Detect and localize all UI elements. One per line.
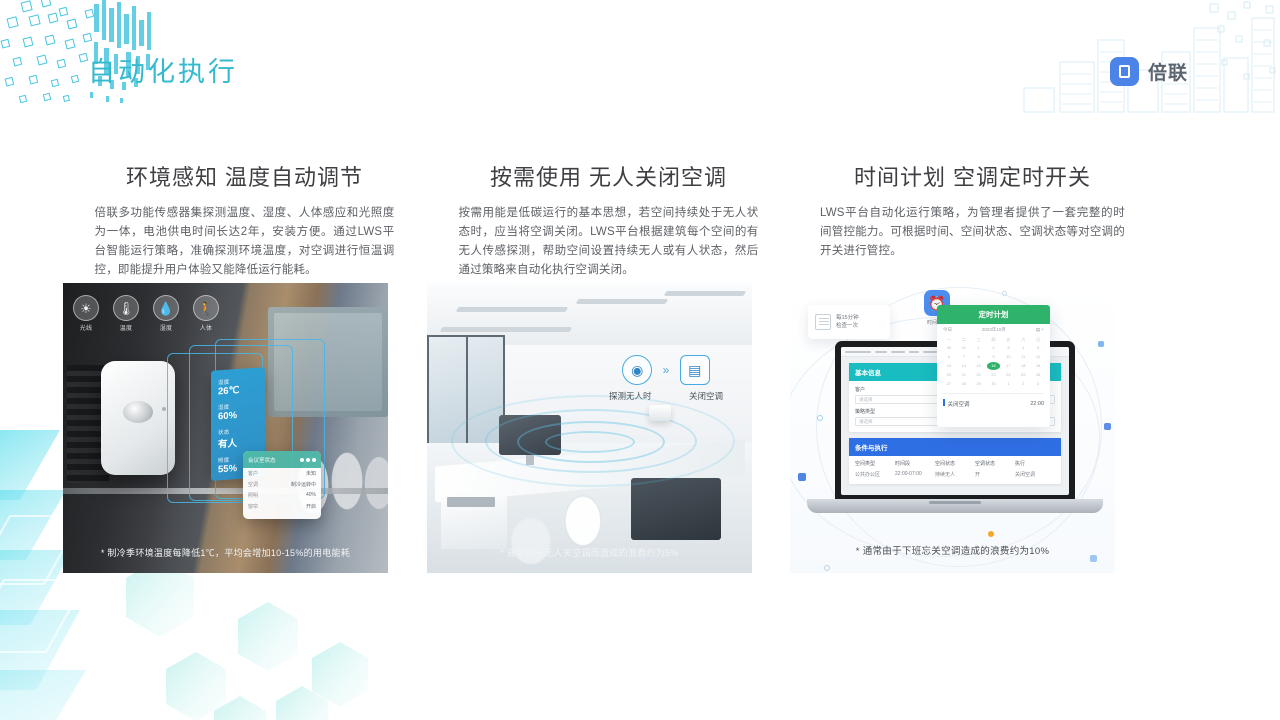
event-name: 关闭空调 [948,402,970,408]
presence-icon: 🚶 [193,295,219,321]
status-card-row: 客户 未知 [243,468,321,479]
status-row-key-0: 客户 [248,470,258,477]
calendar-day[interactable]: 3 [1031,380,1045,388]
photo2-icon-bar: ◉ » ▤ 探测无人时 关闭空调 [607,355,725,402]
calendar-day[interactable]: 10 [1001,353,1015,361]
feature-image-3: 每15分钟 检查一次 ⏰ 时间触发 基本信息 客户 请选择⌄ [790,283,1115,573]
event-name-wrap: 关闭空调 [943,399,970,408]
brand-logo: 倍联 [1110,57,1188,86]
calendar-day[interactable]: 30 [987,380,1001,388]
calendar-day[interactable]: 22 [972,371,986,379]
calendar-day[interactable]: 16 [987,362,1001,370]
calendar-day[interactable]: 29 [972,380,986,388]
calendar-day[interactable]: 8 [972,353,986,361]
feature-title-1: 环境感知 温度自动调节 [63,160,426,192]
calendar-day[interactable]: 27 [942,380,956,388]
calendar-day[interactable]: 6 [942,353,956,361]
presence-icon-label: 人体 [193,323,219,332]
calendar-day[interactable]: 28 [957,380,971,388]
status-row-key-3: 窗帘 [248,503,258,510]
presence-detect-icon: ◉ [622,355,652,385]
thermometer-icon-label: 温度 [113,323,139,332]
photo1-status-card: 会议室状态 客户 未知 空调 制冷运转中 照明 40% 窗帘 开启 [243,451,321,519]
feature-caption-2: * 通常由于无人关空调而造成的浪费约为5% [427,546,752,559]
air-conditioner-icon: ▤ [680,355,710,385]
feature-title-2: 按需使用 无人关闭空调 [427,160,790,192]
photo2-icon-left-label: 探测无人时 [609,390,652,402]
calendar-weekday: 五 [1001,336,1015,344]
status-card-dots-icon [300,458,316,462]
calendar-weekday: 四 [987,336,1001,344]
calendar-day[interactable]: 26 [1031,371,1045,379]
photo3-square [1104,423,1111,430]
calendar-today-button[interactable]: 今日 [943,327,952,333]
brand-name: 倍联 [1148,58,1188,85]
calendar-day[interactable]: 2 [1016,380,1030,388]
calendar-day[interactable]: 31 [957,344,971,352]
photo2-icon-right-label: 关闭空调 [689,390,723,402]
brand-mark-icon [1110,57,1139,86]
calendar-day[interactable]: 20 [942,371,956,379]
calendar-day[interactable]: 24 [1001,371,1015,379]
page-title: 自动化执行 [88,50,238,89]
sun-icon-group: ☀ 光线 [73,295,99,332]
feature-body-3: LWS平台自动化运行策略，为管理者提供了一套完整的时间管控能力。可根据时间、空间… [820,204,1125,261]
calendar-day[interactable]: 19 [1031,362,1045,370]
thermometer-icon: 🌡 [113,295,139,321]
col-header-space-type: 空间类型 [855,460,895,471]
feature-column-2: 按需使用 无人关闭空调 按需用能是低碳运行的基本思想，若空间持续处于无人状态时，… [427,160,790,280]
calendar-day[interactable]: 30 [942,344,956,352]
document-search-icon [815,314,831,330]
cell-time-range: 22:00-07:00 [895,471,935,478]
photo3-square [1098,341,1104,347]
feature-image-1: ☀ 光线 🌡 温度 💧 湿度 🚶 人体 温度 26℃ 湿度 60% 状态 有人 … [63,283,388,573]
cell-ac-status: 开 [975,471,1015,478]
calendar-day[interactable]: 15 [972,362,986,370]
photo2-icon-labels: 探测无人时 关闭空调 [607,390,725,402]
col-header-time-range: 时间段 [895,460,935,471]
photo1-sensor-icon-row: ☀ 光线 🌡 温度 💧 湿度 🚶 人体 [73,295,219,332]
feature-title-3: 时间计划 空调定时开关 [791,160,1154,192]
calendar-day[interactable]: 7 [957,353,971,361]
feature-column-3: 时间计划 空调定时开关 LWS平台自动化运行策略，为管理者提供了一套完整的时间管… [791,160,1154,280]
calendar-weekday-row: 一二三四五六日 [937,336,1050,344]
field-value: 请选择 [859,419,873,425]
status-row-value-2: 40% [306,492,316,499]
calendar-weekday: 三 [972,336,986,344]
calendar-day[interactable]: 5 [1031,344,1045,352]
feature-body-2: 按需用能是低碳运行的基本思想，若空间持续处于无人状态时，应当将空调关闭。LWS平… [459,204,759,280]
status-row-value-0: 未知 [306,470,316,477]
feature-column-1: 环境感知 温度自动调节 倍联多功能传感器集探测温度、湿度、人体感应和光照度为一体… [63,160,426,280]
schedule-calendar-card: 定时计划 今日 2023年10月 ▤ + 一二三四五六日 30311234567… [937,305,1050,427]
cell-space-type: 公共办公区 [855,471,895,478]
event-color-bar [943,399,945,406]
calendar-day[interactable]: 1 [1001,380,1015,388]
photo1-sensor-device [101,361,175,475]
humidity-icon: 💧 [153,295,179,321]
condition-exec-panel: 条件与执行 空间类型 时间段 空间状态 空调状态 执行 公共办公区 22:00-… [849,438,1061,484]
status-card-row: 照明 40% [243,490,321,501]
calendar-day[interactable]: 9 [987,353,1001,361]
status-row-value-3: 开启 [306,503,316,510]
sun-icon: ☀ [73,295,99,321]
calendar-day[interactable]: 25 [1016,371,1030,379]
status-row-key-2: 照明 [248,492,258,499]
table-row: 公共办公区 22:00-07:00 持续无人 开 关闭空调 [855,471,1055,478]
calendar-day[interactable]: 3 [1001,344,1015,352]
calendar-day[interactable]: 2 [987,344,1001,352]
event-time: 22:00 [1030,401,1044,407]
status-card-row: 空调 制冷运转中 [243,479,321,490]
feature-caption-1: * 制冷季环境温度每降低1℃，平均会增加10-15%的用电能耗 [63,546,388,559]
humidity-icon-group: 💧 湿度 [153,295,179,332]
photo2-chair [497,501,567,573]
condition-exec-title: 条件与执行 [849,438,1061,456]
sun-icon-label: 光线 [73,323,99,332]
feature-image-2: ◉ » ▤ 探测无人时 关闭空调 * 通常由于无人关空调而造成的浪费约为5% [427,283,752,573]
photo3-dot [988,531,994,537]
laptop-base [807,499,1103,513]
check-interval-line2: 检查一次 [836,323,858,329]
calendar-day[interactable]: 14 [957,362,971,370]
calendar-day[interactable]: 21 [957,371,971,379]
calendar-add-icon[interactable]: ▤ + [1036,327,1044,333]
photo3-dot [824,565,830,571]
field-value: 请选择 [859,397,873,403]
photo3-dot [1002,291,1007,296]
calendar-weekday: 六 [1016,336,1030,344]
col-header-action: 执行 [1015,460,1055,471]
calendar-day[interactable]: 17 [1001,362,1015,370]
humidity-icon-label: 湿度 [153,323,179,332]
calendar-day[interactable]: 4 [1016,344,1030,352]
calendar-day[interactable]: 13 [942,362,956,370]
calendar-day[interactable]: 12 [1031,353,1045,361]
calendar-month-label: 2023年10月 [982,327,1006,333]
condition-exec-table: 空间类型 时间段 空间状态 空调状态 执行 公共办公区 22:00-07:00 … [849,456,1061,484]
calendar-event-row: 关闭空调 22:00 [943,393,1044,408]
calendar-day[interactable]: 1 [972,344,986,352]
check-interval-text: 每15分钟 检查一次 [836,314,859,330]
check-interval-line1: 每15分钟 [836,315,859,321]
status-row-value-1: 制冷运转中 [291,481,316,488]
calendar-day-grid[interactable]: 3031123456789101112131415161718192021222… [937,344,1050,388]
calendar-nav: 今日 2023年10月 ▤ + [937,324,1050,336]
calendar-day[interactable]: 23 [987,371,1001,379]
calendar-title: 定时计划 [937,305,1050,324]
calendar-weekday: 日 [1031,336,1045,344]
calendar-weekday: 二 [957,336,971,344]
feature-caption-3: * 通常由于下班忘关空调造成的浪费约为10% [790,543,1115,557]
col-header-ac-status: 空调状态 [975,460,1015,471]
photo3-check-interval-tag: 每15分钟 检查一次 [808,305,890,339]
feature-body-1: 倍联多功能传感器集探测温度、湿度、人体感应和光照度为一体，电池供电时间长达2年，… [95,204,395,280]
status-card-header: 会议室状态 [243,451,321,468]
status-card-row: 窗帘 开启 [243,501,321,512]
photo3-square [798,473,806,481]
arrow-icon: » [663,363,670,377]
calendar-day[interactable]: 11 [1016,353,1030,361]
status-row-key-1: 空调 [248,481,258,488]
photo3-dot [817,415,823,421]
cell-action: 关闭空调 [1015,471,1055,478]
readout-value-2: 有人 [218,434,258,451]
cell-space-status: 持续无人 [935,471,975,478]
table-header-row: 空间类型 时间段 空间状态 空调状态 执行 [855,460,1055,471]
col-header-space-status: 空间状态 [935,460,975,471]
presence-icon-group: 🚶 人体 [193,295,219,332]
calendar-weekday: 一 [942,336,956,344]
photo2-ac-unit [649,405,671,421]
photo2-signal-waves [445,401,745,511]
thermometer-icon-group: 🌡 温度 [113,295,139,332]
feature-columns: 环境感知 温度自动调节 倍联多功能传感器集探测温度、湿度、人体感应和光照度为一体… [0,160,1280,280]
status-card-title: 会议室状态 [248,456,276,464]
calendar-day[interactable]: 18 [1016,362,1030,370]
